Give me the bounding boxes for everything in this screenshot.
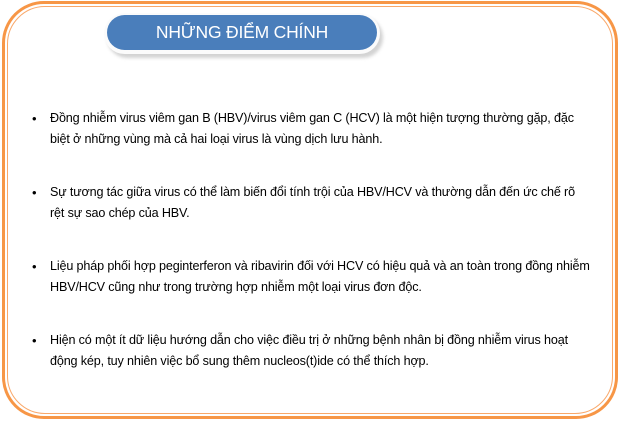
list-item: • Liệu pháp phối hợp peginterferon và ri… <box>30 256 592 298</box>
list-item: • Hiện có một ít dữ liệu hướng dẫn cho v… <box>30 330 592 372</box>
slide-canvas: NHỮNG ĐIỂM CHÍNH • Đồng nhiễm virus viêm… <box>0 0 620 421</box>
bullet-list: • Đồng nhiễm virus viêm gan B (HBV)/viru… <box>30 108 592 372</box>
list-item: • Đồng nhiễm virus viêm gan B (HBV)/viru… <box>30 108 592 150</box>
bullet-text: Đồng nhiễm virus viêm gan B (HBV)/virus … <box>50 108 592 150</box>
list-item: • Sự tương tác giữa virus có thể làm biế… <box>30 182 592 224</box>
bullet-point-icon: • <box>30 256 50 277</box>
bullet-point-icon: • <box>30 108 50 129</box>
page-title: NHỮNG ĐIỂM CHÍNH <box>156 22 328 43</box>
bullet-text: Liệu pháp phối hợp peginterferon và riba… <box>50 256 592 298</box>
slide-title-banner: NHỮNG ĐIỂM CHÍNH <box>104 13 380 54</box>
bullet-text: Hiện có một ít dữ liệu hướng dẫn cho việ… <box>50 330 592 372</box>
bullet-text: Sự tương tác giữa virus có thể làm biến … <box>50 182 592 224</box>
bullet-point-icon: • <box>30 330 50 351</box>
bullet-point-icon: • <box>30 182 50 203</box>
title-banner-fill: NHỮNG ĐIỂM CHÍNH <box>107 15 377 50</box>
